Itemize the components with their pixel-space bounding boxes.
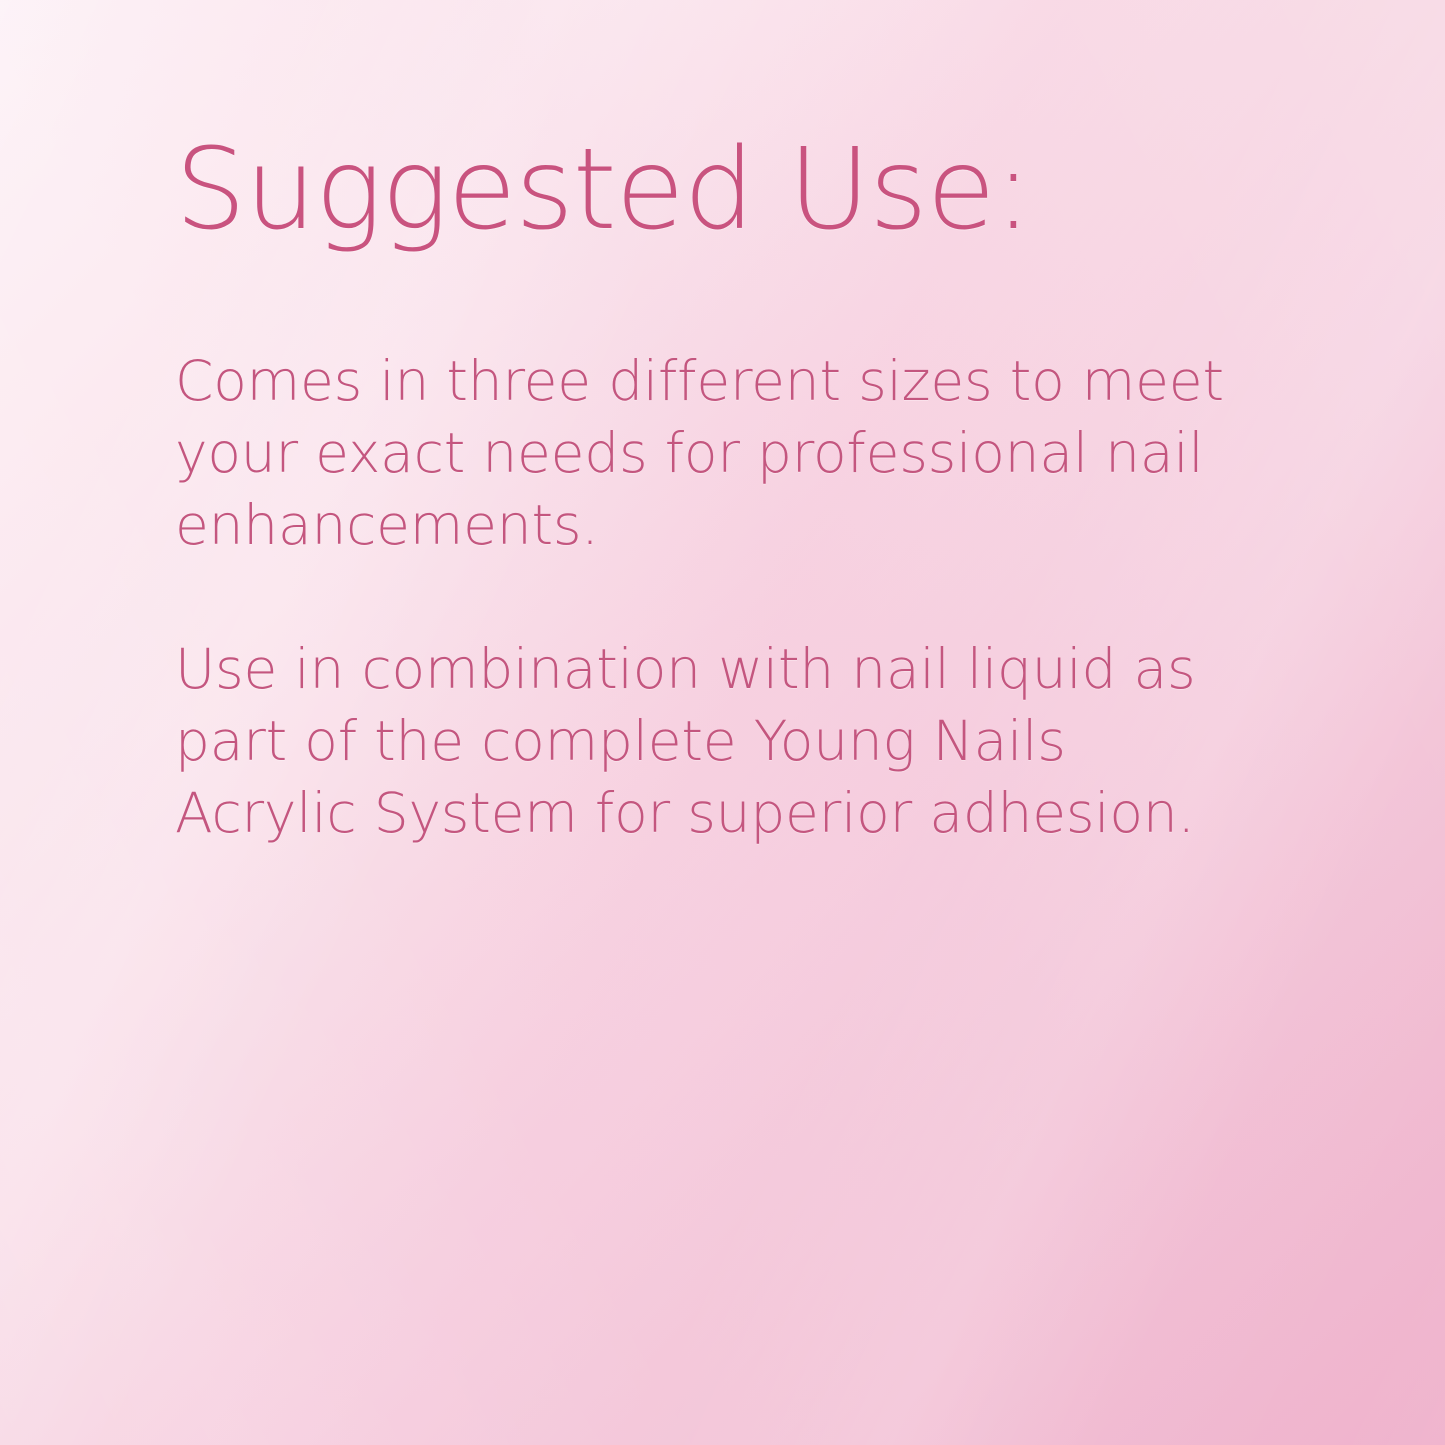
paragraph-usage: Use in combination with nail liquid as p… xyxy=(175,633,1235,849)
suggested-use-graphic: Suggested Use: Comes in three different … xyxy=(0,0,1445,1445)
paragraph-sizes: Comes in three different sizes to meet y… xyxy=(175,345,1235,561)
body-text-block: Comes in three different sizes to meet y… xyxy=(175,345,1235,849)
page-title: Suggested Use: xyxy=(175,134,1031,246)
